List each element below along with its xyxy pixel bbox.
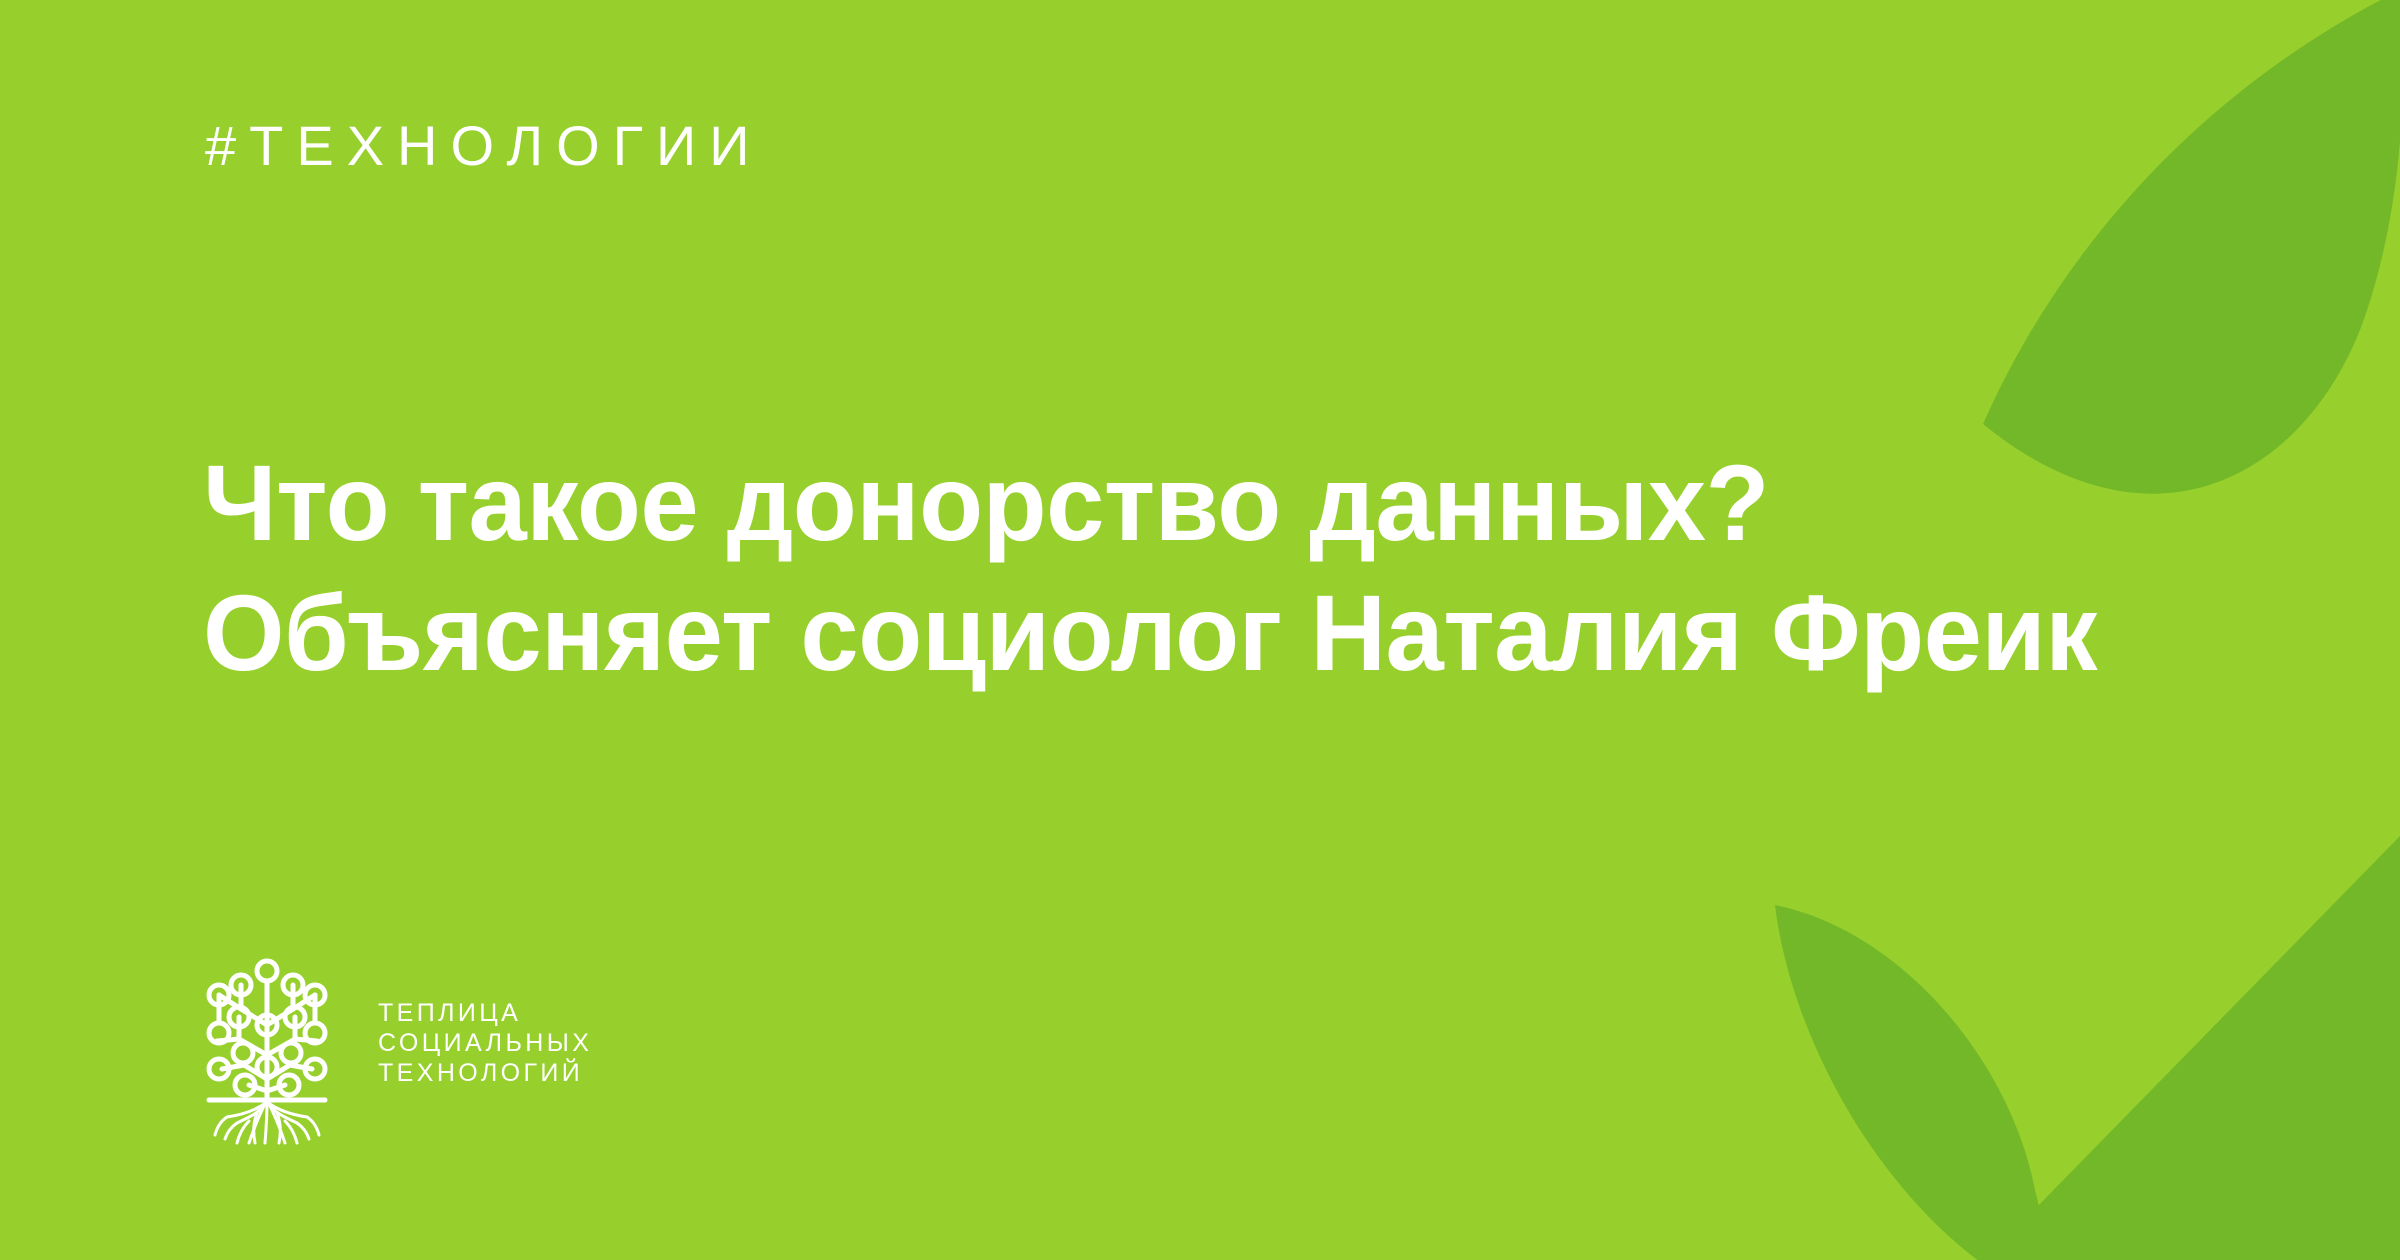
brand-logo-text: ТЕПЛИЦА СОЦИАЛЬНЫХ ТЕХНОЛОГИЙ (378, 998, 592, 1092)
category-hashtag: #ТЕХНОЛОГИИ (205, 118, 763, 174)
bottom-right-wedge-icon (1983, 836, 2400, 1260)
brand-logo-text-line-2: СОЦИАЛЬНЫХ (378, 1028, 592, 1058)
brand-logo: ТЕПЛИЦА СОЦИАЛЬНЫХ ТЕХНОЛОГИЙ (197, 945, 592, 1145)
tree-network-logo-icon (197, 945, 337, 1145)
page-title-line-1: Что такое донорство данных? (203, 438, 2097, 568)
page-title-line-2: Объясняет социолог Наталия Фреик (203, 568, 2097, 698)
brand-logo-text-line-3: ТЕХНОЛОГИЙ (378, 1058, 592, 1088)
brand-logo-text-line-1: ТЕПЛИЦА (378, 998, 592, 1028)
top-right-leaf-icon (1983, 0, 2400, 494)
bottom-right-leaf-icon (1775, 905, 2042, 1260)
social-card: #ТЕХНОЛОГИИ Что такое донорство данных? … (0, 0, 2400, 1260)
page-title: Что такое донорство данных? Объясняет со… (203, 438, 2097, 698)
